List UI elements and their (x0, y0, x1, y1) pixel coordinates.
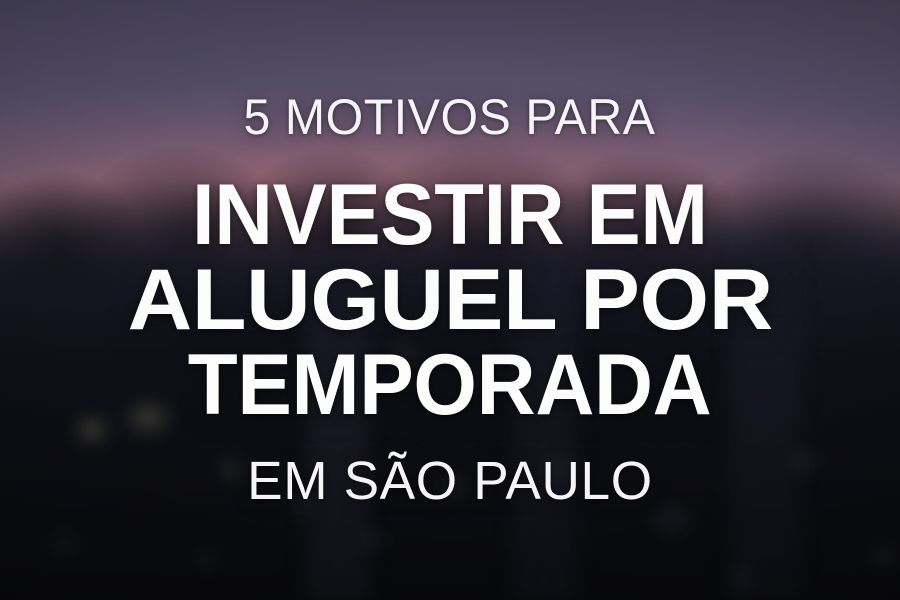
tagline-text: EM SÃO PAULO (247, 454, 653, 508)
kicker-text: 5 MOTIVOS PARA (244, 92, 656, 142)
headline: INVESTIR EM ALUGUEL POR TEMPORADA (140, 173, 761, 427)
headline-line-2: ALUGUEL POR (127, 258, 772, 343)
headline-line-1: INVESTIR EM (192, 173, 708, 258)
headline-line-3: TEMPORADA (188, 343, 712, 428)
title-block: 5 MOTIVOS PARA INVESTIR EM ALUGUEL POR T… (0, 0, 900, 600)
poster-canvas: 5 MOTIVOS PARA INVESTIR EM ALUGUEL POR T… (0, 0, 900, 600)
